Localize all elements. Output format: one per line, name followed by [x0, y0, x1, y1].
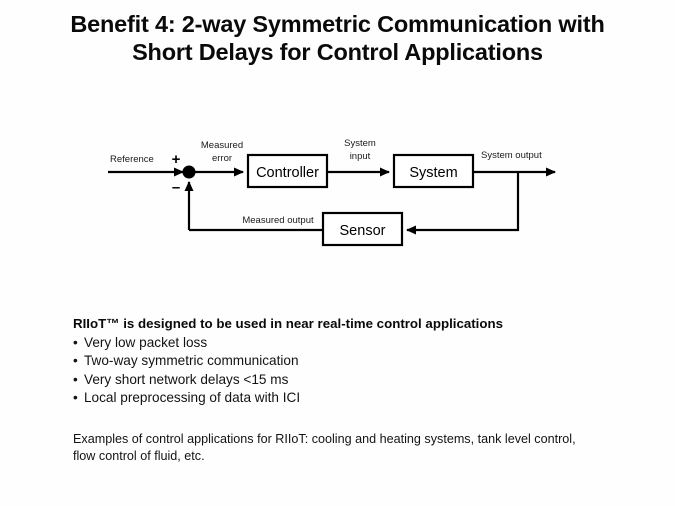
system-input-label-line-2: input — [350, 151, 371, 162]
controller-block-label: Controller — [256, 165, 319, 181]
measured-error-label-line-2: error — [212, 153, 232, 164]
body-text-block: RIIoT™ is designed to be used in near re… — [73, 314, 633, 465]
feedback-control-loop-diagram: Controller System Sensor Reference Measu… — [0, 120, 675, 270]
list-item-label: Two-way symmetric communication — [84, 353, 299, 368]
page-title-line-2: Short Delays for Control Applications — [20, 38, 655, 66]
measured-error-label-line-1: Measured — [201, 140, 243, 151]
page-title: Benefit 4: 2-way Symmetric Communication… — [20, 10, 655, 66]
system-block-label: System — [409, 165, 457, 181]
summing-junction-minus-sign: – — [172, 179, 180, 196]
sensor-block-label: Sensor — [340, 223, 386, 239]
system-output-label: System output — [481, 150, 542, 161]
slide-canvas: Benefit 4: 2-way Symmetric Communication… — [0, 0, 675, 506]
bullet-icon: • — [73, 352, 78, 370]
list-item: • Local preprocessing of data with ICI — [73, 389, 633, 407]
list-item-label: Very short network delays <15 ms — [84, 372, 288, 387]
list-item-label: Very low packet loss — [84, 335, 207, 350]
list-item: • Two-way symmetric communication — [73, 352, 633, 370]
reference-label: Reference — [110, 154, 154, 165]
measured-output-label: Measured output — [242, 215, 314, 226]
examples-paragraph: Examples of control applications for RII… — [73, 431, 597, 465]
list-item: • Very short network delays <15 ms — [73, 371, 633, 389]
list-item: • Very low packet loss — [73, 334, 633, 352]
page-title-line-1: Benefit 4: 2-way Symmetric Communication… — [20, 10, 655, 38]
bullet-icon: • — [73, 334, 78, 352]
bullet-icon: • — [73, 389, 78, 407]
summing-junction — [183, 166, 196, 179]
benefits-bullet-list: • Very low packet loss • Two-way symmetr… — [73, 334, 633, 408]
system-input-label-line-1: System — [344, 138, 376, 149]
bullet-icon: • — [73, 371, 78, 389]
summing-junction-plus-sign: + — [172, 151, 181, 168]
lead-statement: RIIoT™ is designed to be used in near re… — [73, 314, 633, 333]
list-item-label: Local preprocessing of data with ICI — [84, 390, 300, 405]
